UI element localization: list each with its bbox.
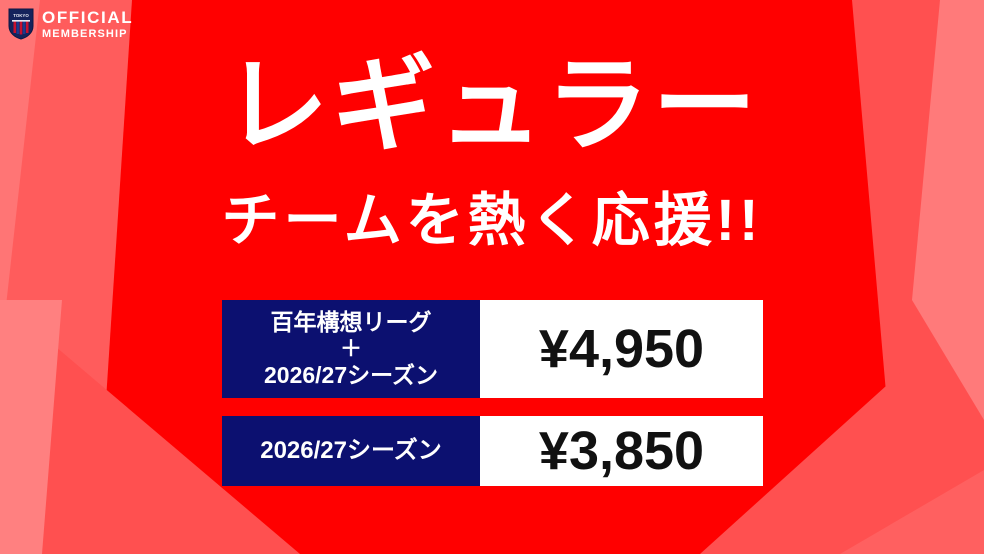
headline-block: レギュラー チームを熱く応援!! [0,52,984,253]
price-amount: ¥3,850 [480,416,763,486]
official-membership-badge: TOKYO OFFICIAL MEMBERSHIP [8,8,133,40]
price-plan-label: 百年構想リーグ ＋ 2026/27シーズン [222,300,480,398]
price-table: 百年構想リーグ ＋ 2026/27シーズン ¥4,950 2026/27シーズン… [222,300,763,486]
badge-membership-label: MEMBERSHIP [42,29,133,40]
badge-official-label: OFFICIAL [42,9,133,26]
crest-wordmark: TOKYO [13,13,29,18]
price-plan-label: 2026/27シーズン [222,416,480,486]
table-row: 百年構想リーグ ＋ 2026/27シーズン ¥4,950 [222,300,763,398]
membership-price-poster: TOKYO OFFICIAL MEMBERSHIP レギュラー チームを熱く応援… [0,0,984,554]
plan-label-line-3: 2026/27シーズン [264,361,438,390]
fc-tokyo-crest-icon: TOKYO [8,8,34,40]
table-row: 2026/27シーズン ¥3,850 [222,416,763,486]
plan-label-line-1: 2026/27シーズン [260,436,442,466]
plan-label-line-1: 百年構想リーグ [271,308,432,337]
page-title: レギュラー [0,52,984,161]
plan-label-line-2: ＋ [340,337,362,361]
page-subtitle: チームを熱く応援!! [0,189,984,253]
price-amount: ¥4,950 [480,300,763,398]
badge-text-lockup: OFFICIAL MEMBERSHIP [42,9,133,40]
